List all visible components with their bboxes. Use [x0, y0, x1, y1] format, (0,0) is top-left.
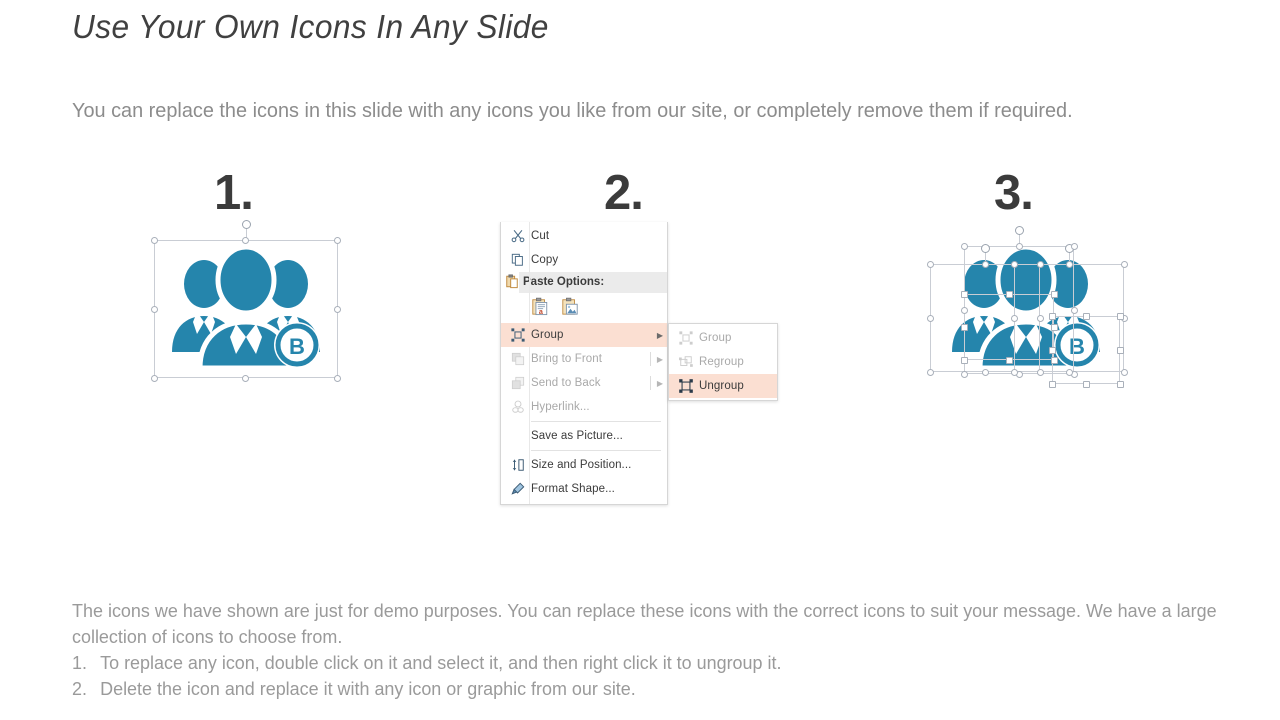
selection-handle-nw[interactable]	[151, 237, 158, 244]
paste-picture-icon[interactable]	[561, 297, 579, 319]
badge-letter: B	[289, 334, 305, 359]
list-item-text: To replace any icon, double click on it …	[100, 650, 781, 676]
rotation-handle-left[interactable]	[981, 244, 990, 253]
icon-stage-ungrouped[interactable]: B	[930, 232, 1142, 414]
subshape-handle[interactable]	[982, 369, 989, 376]
size-position-icon	[505, 454, 531, 476]
submenu-item-group[interactable]: Group	[669, 326, 777, 350]
subshape-handle[interactable]	[927, 369, 934, 376]
subshape-handle[interactable]	[1117, 347, 1124, 354]
menu-item-label: Cut	[531, 230, 667, 242]
selection-handle-w[interactable]	[151, 306, 158, 313]
menu-item-format-shape[interactable]: Format Shape...	[501, 477, 667, 501]
list-item: 1. To replace any icon, double click on …	[72, 650, 1217, 676]
context-menu[interactable]: Cut Copy Paste Options:	[500, 222, 668, 505]
menu-item-label: Copy	[531, 254, 667, 266]
list-item-text: Delete the icon and replace it with any …	[100, 676, 636, 702]
paste-options-buttons[interactable]: a	[501, 293, 667, 323]
subshape-handle[interactable]	[1071, 243, 1078, 250]
page-title: Use Your Own Icons In Any Slide	[72, 8, 549, 46]
subshape-frame-badge[interactable]	[1052, 316, 1120, 384]
subshape-handle[interactable]	[1071, 307, 1078, 314]
step-number-3: 3.	[994, 165, 1033, 221]
subshape-handle[interactable]	[1083, 381, 1090, 388]
subshape-handle[interactable]	[1117, 381, 1124, 388]
rotation-handle-center[interactable]	[1015, 226, 1024, 235]
hyperlink-icon	[505, 396, 531, 418]
list-item-number: 1.	[72, 650, 91, 676]
subshape-handle[interactable]	[1006, 291, 1013, 298]
subshape-handle[interactable]	[1117, 313, 1124, 320]
subshape-handle[interactable]	[961, 307, 968, 314]
icon-stage-grouped[interactable]: B	[150, 232, 342, 382]
menu-item-label: Paste Options:	[519, 272, 667, 293]
selection-handle-sw[interactable]	[151, 375, 158, 382]
slide-subtitle: You can replace the icons in this slide …	[72, 95, 1151, 126]
subshape-handle[interactable]	[1037, 315, 1044, 322]
subshape-handle[interactable]	[1011, 369, 1018, 376]
subshape-handle[interactable]	[1011, 315, 1018, 322]
subshape-handle[interactable]	[1006, 357, 1013, 364]
subshape-handle[interactable]	[961, 324, 968, 331]
selection-handle-se[interactable]	[334, 375, 341, 382]
menu-item-send-to-back[interactable]: Send to Back ▶	[501, 371, 667, 395]
submenu-item-label: Group	[699, 332, 777, 344]
scissors-icon	[505, 225, 531, 247]
chevron-right-icon: ▶	[653, 355, 667, 364]
menu-item-hyperlink[interactable]: Hyperlink...	[501, 395, 667, 419]
subshape-handle[interactable]	[1083, 313, 1090, 320]
subshape-handle[interactable]	[961, 291, 968, 298]
menu-separator	[531, 421, 661, 422]
copy-icon	[505, 249, 531, 271]
format-shape-icon	[505, 478, 531, 500]
subshape-handle[interactable]	[1066, 369, 1073, 376]
bottom-note-paragraph: The icons we have shown are just for dem…	[72, 598, 1217, 650]
subshape-frame-center-body[interactable]	[964, 294, 1054, 360]
subshape-handle[interactable]	[1016, 243, 1023, 250]
submenu-item-regroup[interactable]: Regroup	[669, 350, 777, 374]
menu-item-size-and-position[interactable]: Size and Position...	[501, 453, 667, 477]
subshape-handle[interactable]	[961, 243, 968, 250]
step-number-2: 2.	[604, 165, 643, 221]
subshape-handle[interactable]	[961, 357, 968, 364]
menu-item-copy[interactable]: Copy	[501, 248, 667, 272]
subshape-handle[interactable]	[1037, 261, 1044, 268]
subshape-handle[interactable]	[1051, 324, 1058, 331]
ungroup-icon	[673, 375, 699, 397]
send-to-back-icon	[505, 372, 531, 394]
step-number-1: 1.	[214, 165, 253, 221]
menu-item-cut[interactable]: Cut	[501, 224, 667, 248]
menu-item-group[interactable]: Group ▶	[501, 323, 667, 347]
subshape-handle[interactable]	[927, 315, 934, 322]
subshape-handle[interactable]	[1037, 369, 1044, 376]
menu-arrow-separator	[650, 376, 651, 390]
menu-arrow-separator	[650, 352, 651, 366]
no-icon	[505, 425, 531, 447]
bottom-note: The icons we have shown are just for dem…	[72, 598, 1217, 702]
menu-item-save-as-picture[interactable]: Save as Picture...	[501, 424, 667, 448]
submenu-item-ungroup[interactable]: Ungroup	[669, 374, 777, 398]
group-icon	[505, 324, 531, 346]
regroup-icon	[673, 351, 699, 373]
people-group-icon: B	[164, 246, 328, 372]
subshape-handle[interactable]	[1049, 381, 1056, 388]
clipboard-icon	[505, 274, 519, 292]
subshape-handle[interactable]	[1121, 261, 1128, 268]
rotation-handle[interactable]	[242, 220, 251, 229]
selection-handle-s[interactable]	[242, 375, 249, 382]
subshape-handle[interactable]	[961, 371, 968, 378]
submenu-item-label: Ungroup	[699, 380, 777, 392]
subshape-handle[interactable]	[982, 261, 989, 268]
menu-item-label: Size and Position...	[531, 459, 667, 471]
menu-separator	[531, 450, 661, 451]
subshape-handle[interactable]	[1051, 291, 1058, 298]
menu-item-label: Send to Back	[531, 377, 653, 389]
selection-handle-n[interactable]	[242, 237, 249, 244]
subshape-handle[interactable]	[1011, 261, 1018, 268]
menu-item-label: Bring to Front	[531, 353, 653, 365]
selection-handle-e[interactable]	[334, 306, 341, 313]
subshape-handle[interactable]	[1121, 369, 1128, 376]
subshape-handle[interactable]	[927, 261, 934, 268]
selection-handle-ne[interactable]	[334, 237, 341, 244]
subshape-handle[interactable]	[1049, 313, 1056, 320]
bottom-note-steps: 1. To replace any icon, double click on …	[72, 650, 1217, 702]
chevron-right-icon: ▶	[653, 379, 667, 388]
menu-item-label: Save as Picture...	[531, 430, 667, 442]
menu-item-label: Format Shape...	[531, 483, 667, 495]
paste-keep-text-icon[interactable]: a	[531, 297, 549, 319]
list-item-number: 2.	[72, 676, 91, 702]
chevron-right-icon: ▶	[653, 331, 667, 340]
subshape-handle[interactable]	[1049, 347, 1056, 354]
subshape-handle[interactable]	[1066, 261, 1073, 268]
submenu-item-label: Regroup	[699, 356, 777, 368]
context-submenu-group[interactable]: Group Regroup Ungroup	[668, 323, 778, 401]
bring-to-front-icon	[505, 348, 531, 370]
group-icon	[673, 327, 699, 349]
menu-item-paste-options: Paste Options:	[501, 272, 667, 293]
list-item: 2. Delete the icon and replace it with a…	[72, 676, 1217, 702]
menu-item-label: Hyperlink...	[531, 401, 667, 413]
menu-item-label: Group	[531, 329, 653, 341]
subshape-handle[interactable]	[1051, 357, 1058, 364]
menu-item-bring-to-front[interactable]: Bring to Front ▶	[501, 347, 667, 371]
